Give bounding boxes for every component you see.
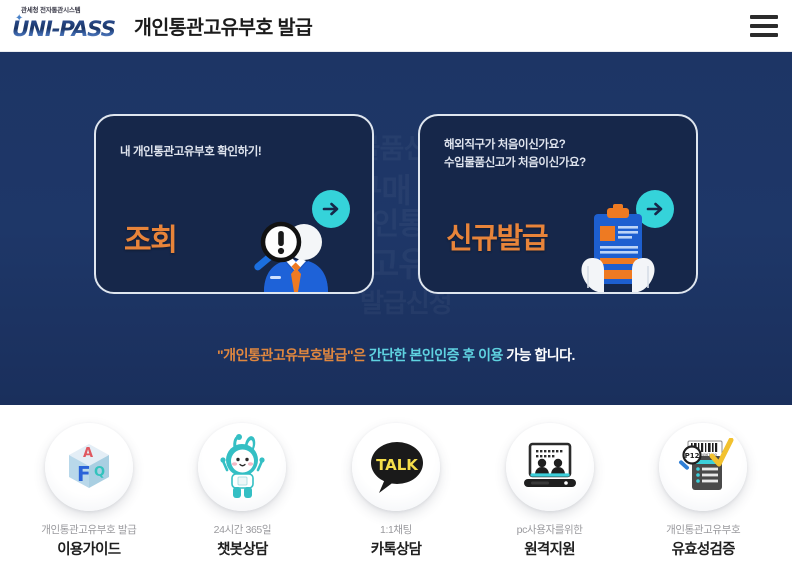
card-new-issue[interactable]: 해외직구가 처음이신가요? 수입물품신고가 처음이신가요? 신규발급 xyxy=(418,114,698,294)
quick-link-remote-title: 원격지원 xyxy=(524,543,575,558)
faq-cube-icon: F A Q xyxy=(45,423,133,511)
quick-link-guide-title: 이용가이드 xyxy=(57,543,120,558)
quick-link-kakao[interactable]: TALK 1:1채팅 카톡상담 xyxy=(331,423,461,557)
quick-link-chatbot-title: 챗봇상담 xyxy=(217,543,268,558)
card-lookup[interactable]: 내 개인통관고유부호 확인하기! 조회 xyxy=(94,114,374,294)
hamburger-bar-2 xyxy=(750,24,778,28)
logo-wordmark-wrap: ✦ UNI-PASS xyxy=(12,16,126,43)
remote-support-laptop-icon xyxy=(506,423,594,511)
quick-link-validate-sub: 개인통관고유부호 xyxy=(666,525,740,536)
notice-plain-text: 가능 합니다. xyxy=(506,347,575,363)
hands-holding-clipboard-icon xyxy=(566,200,670,292)
quick-link-chatbot-sub: 24시간 365일 xyxy=(214,525,272,536)
card-lookup-action-label: 조회 xyxy=(124,226,176,256)
hero-section: 수입물품신고 해외직구물품 구매 개인통관 고유부호 발급신청 내 개인통관고유… xyxy=(0,52,792,405)
quick-link-validate[interactable]: P1234567890 P12 개인통 xyxy=(638,423,768,557)
hero-notice: "개인통관고유부호발급"은 간단한 본인인증 후 이용 가능 합니다. xyxy=(0,348,792,362)
svg-text:F: F xyxy=(77,462,91,486)
hero-cards: 내 개인통관고유부호 확인하기! 조회 xyxy=(0,114,792,294)
quick-links-bar: F A Q 개인통관고유부호 발급 이용가이드 xyxy=(0,405,792,574)
quick-link-remote-sub: pc사용자를위한 xyxy=(517,525,583,536)
page-header: 관세청 전자통관시스템 ✦ UNI-PASS 개인통관고유부호 발급 xyxy=(0,0,792,52)
quick-link-kakao-title: 카톡상담 xyxy=(371,543,422,558)
quick-link-remote[interactable]: pc사용자를위한 원격지원 xyxy=(485,423,615,557)
quick-link-kakao-sub: 1:1채팅 xyxy=(380,525,412,536)
svg-text:P12: P12 xyxy=(685,452,700,460)
hamburger-menu-icon[interactable] xyxy=(750,15,778,37)
svg-text:TALK: TALK xyxy=(376,456,419,474)
kakao-talk-bubble-icon: TALK xyxy=(352,423,440,511)
svg-text:Q: Q xyxy=(94,465,105,480)
quick-link-guide[interactable]: F A Q 개인통관고유부호 발급 이용가이드 xyxy=(24,423,154,557)
quick-link-guide-sub: 개인통관고유부호 발급 xyxy=(41,525,136,536)
card-lookup-caption: 내 개인통관고유부호 확인하기! xyxy=(120,144,261,162)
card-new-issue-caption: 해외직구가 처음이신가요? 수입물품신고가 처음이신가요? xyxy=(444,137,586,173)
card-new-issue-action-label: 신규발급 xyxy=(446,225,547,254)
hamburger-bar-3 xyxy=(750,33,778,37)
barcode-verify-icon: P1234567890 P12 xyxy=(659,423,747,511)
chatbot-rabbit-mascot-icon xyxy=(198,423,286,511)
card-new-issue-caption-line1: 해외직구가 처음이신가요? xyxy=(444,137,586,155)
logo-wordmark: UNI-PASS xyxy=(12,19,115,40)
page-root: 관세청 전자통관시스템 ✦ UNI-PASS 개인통관고유부호 발급 수입물품신… xyxy=(0,0,792,574)
logo-subtitle: 관세청 전자통관시스템 xyxy=(12,8,126,15)
quick-link-validate-title: 유효성검증 xyxy=(672,543,735,558)
notice-quoted-text: "개인통관고유부호발급"은 xyxy=(217,347,365,363)
person-with-magnifier-icon xyxy=(240,206,350,292)
hamburger-bar-1 xyxy=(750,15,778,19)
card-new-issue-caption-line2: 수입물품신고가 처음이신가요? xyxy=(444,155,586,173)
unipass-logo[interactable]: 관세청 전자통관시스템 ✦ UNI-PASS xyxy=(8,8,126,43)
svg-text:A: A xyxy=(83,446,93,461)
page-title: 개인통관고유부호 발급 xyxy=(134,11,312,40)
notice-highlight-text: 간단한 본인인증 후 이용 xyxy=(369,347,503,363)
quick-link-chatbot[interactable]: 24시간 365일 챗봇상담 xyxy=(177,423,307,557)
